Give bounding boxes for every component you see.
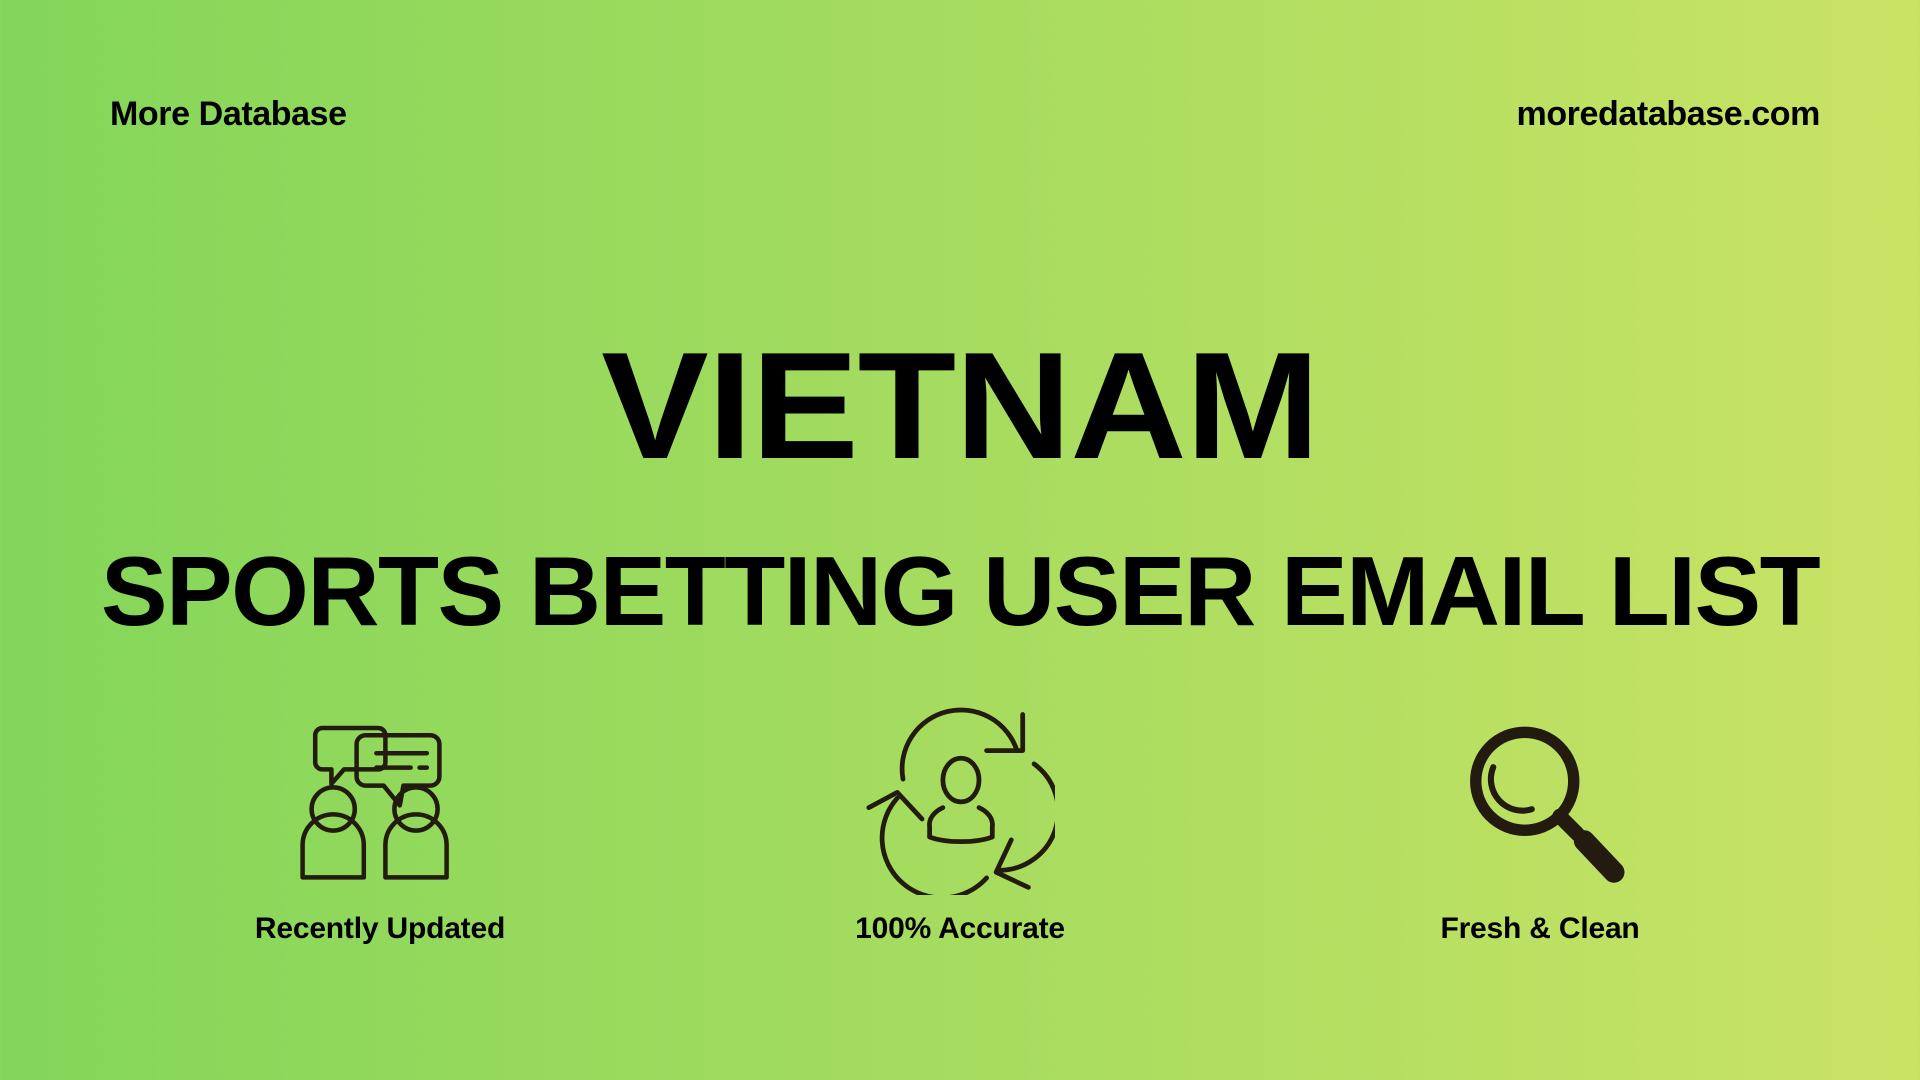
feature-item-accurate: 100% Accurate	[750, 700, 1170, 946]
page-title-country: VIETNAM	[0, 330, 1920, 482]
brand-name: More Database	[110, 95, 347, 134]
feature-item-recently-updated: Recently Updated	[170, 700, 590, 946]
feature-item-fresh-clean: Fresh & Clean	[1330, 700, 1750, 946]
feature-label: Fresh & Clean	[1440, 912, 1639, 946]
feature-label: 100% Accurate	[855, 912, 1065, 946]
people-chat-icon	[290, 700, 470, 900]
page-subtitle: SPORTS BETTING USER EMAIL LIST	[0, 542, 1920, 640]
magnifying-glass-icon	[1453, 700, 1628, 900]
feature-label: Recently Updated	[255, 912, 505, 946]
header-bar: More Database moredatabase.com	[0, 0, 1920, 200]
feature-row: Recently Updated 100% Accurate	[0, 700, 1920, 1040]
user-refresh-cycle-icon	[865, 700, 1055, 900]
site-url: moredatabase.com	[1516, 95, 1820, 134]
headline-block: VIETNAM SPORTS BETTING USER EMAIL LIST	[0, 330, 1920, 640]
